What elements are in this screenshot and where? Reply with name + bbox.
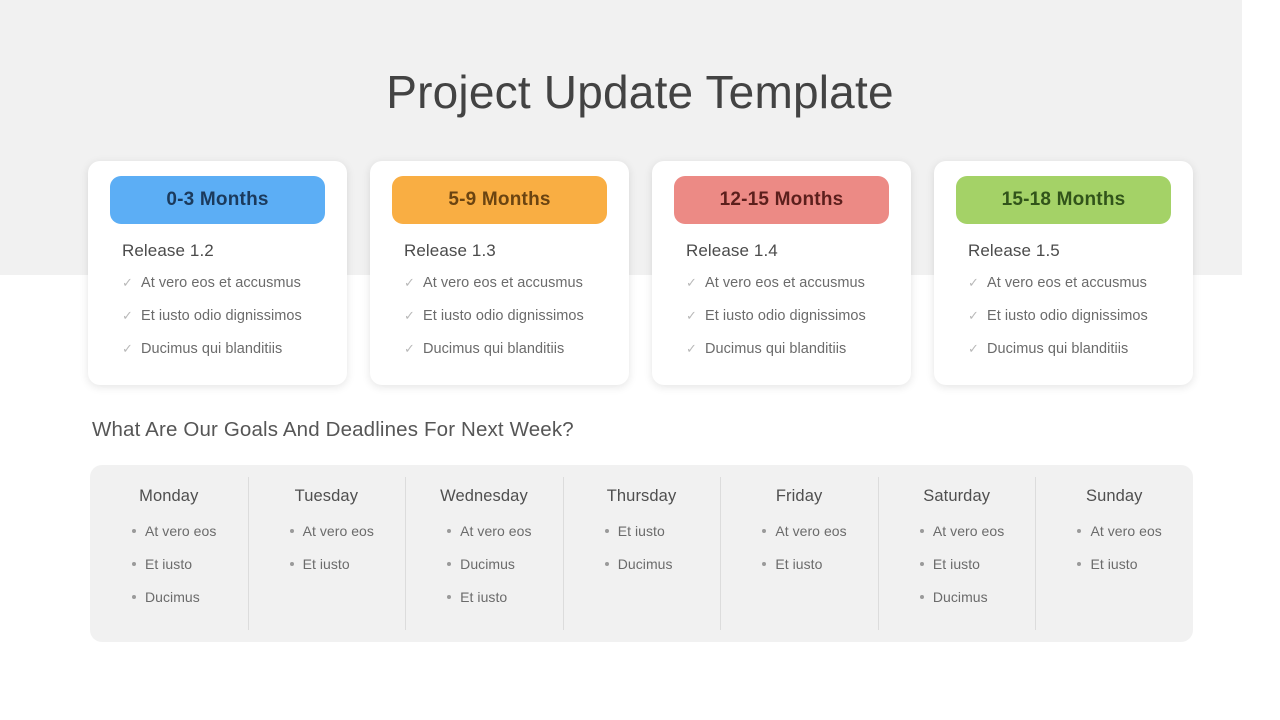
day-name-label: Saturday: [878, 487, 1036, 506]
day-task-item: Ducimus: [920, 589, 1036, 622]
day-task-item: At vero eos: [762, 523, 878, 556]
day-name-label: Friday: [720, 487, 878, 506]
release-card[interactable]: 12-15 MonthsRelease 1.4✓At vero eos et a…: [652, 161, 911, 385]
day-column-friday: FridayAt vero eosEt iusto: [720, 465, 878, 642]
release-version-label: Release 1.3: [404, 241, 496, 261]
check-icon: ✓: [968, 309, 979, 322]
release-feature-list: ✓At vero eos et accusmus✓Et iusto odio d…: [404, 275, 614, 374]
day-task-label: At vero eos: [303, 523, 374, 539]
bullet-icon: [762, 529, 766, 533]
bullet-icon: [290, 562, 294, 566]
bullet-icon: [447, 595, 451, 599]
day-task-item: Ducimus: [447, 556, 563, 589]
timeframe-badge[interactable]: 15-18 Months: [956, 176, 1171, 224]
day-task-list: Et iustoDucimus: [563, 523, 721, 589]
bullet-icon: [920, 529, 924, 533]
goals-section-heading: What Are Our Goals And Deadlines For Nex…: [92, 418, 574, 442]
release-feature-item: ✓Ducimus qui blanditiis: [404, 341, 614, 374]
bullet-icon: [920, 595, 924, 599]
release-feature-label: At vero eos et accusmus: [141, 275, 301, 291]
release-card[interactable]: 5-9 MonthsRelease 1.3✓At vero eos et acc…: [370, 161, 629, 385]
day-task-label: Ducimus: [618, 556, 673, 572]
day-task-label: At vero eos: [933, 523, 1004, 539]
week-schedule-panel: MondayAt vero eosEt iustoDucimusTuesdayA…: [90, 465, 1193, 642]
bullet-icon: [447, 562, 451, 566]
release-feature-label: At vero eos et accusmus: [705, 275, 865, 291]
release-feature-label: Et iusto odio dignissimos: [423, 308, 584, 324]
release-feature-label: Et iusto odio dignissimos: [705, 308, 866, 324]
release-feature-item: ✓At vero eos et accusmus: [122, 275, 332, 308]
day-task-label: Et iusto: [460, 589, 507, 605]
timeframe-badge[interactable]: 12-15 Months: [674, 176, 889, 224]
day-task-list: At vero eosEt iustoDucimus: [90, 523, 248, 622]
day-task-label: Ducimus: [933, 589, 988, 605]
day-task-item: At vero eos: [447, 523, 563, 556]
release-version-label: Release 1.2: [122, 241, 214, 261]
day-task-item: At vero eos: [920, 523, 1036, 556]
bullet-icon: [920, 562, 924, 566]
release-version-label: Release 1.5: [968, 241, 1060, 261]
day-task-label: Ducimus: [460, 556, 515, 572]
timeframe-badge[interactable]: 0-3 Months: [110, 176, 325, 224]
day-task-label: Et iusto: [775, 556, 822, 572]
release-feature-list: ✓At vero eos et accusmus✓Et iusto odio d…: [968, 275, 1178, 374]
day-task-list: At vero eosEt iusto: [248, 523, 406, 589]
day-name-label: Wednesday: [405, 487, 563, 506]
check-icon: ✓: [122, 342, 133, 355]
day-task-item: Ducimus: [605, 556, 721, 589]
release-feature-item: ✓Et iusto odio dignissimos: [122, 308, 332, 341]
check-icon: ✓: [122, 276, 133, 289]
day-task-item: Et iusto: [290, 556, 406, 589]
day-name-label: Monday: [90, 487, 248, 506]
day-task-item: Et iusto: [1077, 556, 1193, 589]
day-task-label: Et iusto: [1090, 556, 1137, 572]
day-column-thursday: ThursdayEt iustoDucimus: [563, 465, 721, 642]
timeframe-badge[interactable]: 5-9 Months: [392, 176, 607, 224]
release-card[interactable]: 0-3 MonthsRelease 1.2✓At vero eos et acc…: [88, 161, 347, 385]
release-feature-item: ✓At vero eos et accusmus: [968, 275, 1178, 308]
bullet-icon: [1077, 562, 1081, 566]
release-feature-label: At vero eos et accusmus: [423, 275, 583, 291]
day-task-list: At vero eosEt iustoDucimus: [878, 523, 1036, 622]
day-name-label: Thursday: [563, 487, 721, 506]
bullet-icon: [132, 529, 136, 533]
bullet-icon: [605, 529, 609, 533]
day-column-saturday: SaturdayAt vero eosEt iustoDucimus: [878, 465, 1036, 642]
release-feature-label: Ducimus qui blanditiis: [705, 341, 846, 357]
bullet-icon: [290, 529, 294, 533]
page-title: Project Update Template: [0, 62, 1280, 122]
check-icon: ✓: [404, 342, 415, 355]
day-task-list: At vero eosEt iusto: [720, 523, 878, 589]
release-cards-row: 0-3 MonthsRelease 1.2✓At vero eos et acc…: [88, 161, 1193, 385]
bullet-icon: [1077, 529, 1081, 533]
release-feature-item: ✓Ducimus qui blanditiis: [122, 341, 332, 374]
day-task-list: At vero eosEt iusto: [1035, 523, 1193, 589]
bullet-icon: [447, 529, 451, 533]
day-task-label: At vero eos: [1090, 523, 1161, 539]
day-task-list: At vero eosDucimusEt iusto: [405, 523, 563, 622]
release-card[interactable]: 15-18 MonthsRelease 1.5✓At vero eos et a…: [934, 161, 1193, 385]
day-task-item: Ducimus: [132, 589, 248, 622]
day-task-item: At vero eos: [290, 523, 406, 556]
release-feature-item: ✓Ducimus qui blanditiis: [686, 341, 896, 374]
release-feature-label: Et iusto odio dignissimos: [141, 308, 302, 324]
release-feature-item: ✓Ducimus qui blanditiis: [968, 341, 1178, 374]
release-version-label: Release 1.4: [686, 241, 778, 261]
day-task-item: Et iusto: [920, 556, 1036, 589]
check-icon: ✓: [122, 309, 133, 322]
release-feature-item: ✓At vero eos et accusmus: [404, 275, 614, 308]
day-column-sunday: SundayAt vero eosEt iusto: [1035, 465, 1193, 642]
release-feature-label: Ducimus qui blanditiis: [423, 341, 564, 357]
release-feature-item: ✓Et iusto odio dignissimos: [968, 308, 1178, 341]
day-column-tuesday: TuesdayAt vero eosEt iusto: [248, 465, 406, 642]
release-feature-label: Ducimus qui blanditiis: [987, 341, 1128, 357]
release-feature-list: ✓At vero eos et accusmus✓Et iusto odio d…: [686, 275, 896, 374]
day-task-item: Et iusto: [762, 556, 878, 589]
bullet-icon: [132, 595, 136, 599]
background-right-edge: [1242, 0, 1280, 275]
check-icon: ✓: [686, 342, 697, 355]
day-task-label: Ducimus: [145, 589, 200, 605]
release-feature-list: ✓At vero eos et accusmus✓Et iusto odio d…: [122, 275, 332, 374]
day-task-item: Et iusto: [447, 589, 563, 622]
day-task-item: At vero eos: [132, 523, 248, 556]
day-column-monday: MondayAt vero eosEt iustoDucimus: [90, 465, 248, 642]
check-icon: ✓: [686, 276, 697, 289]
release-feature-item: ✓At vero eos et accusmus: [686, 275, 896, 308]
day-task-label: At vero eos: [460, 523, 531, 539]
check-icon: ✓: [686, 309, 697, 322]
check-icon: ✓: [968, 276, 979, 289]
day-task-label: Et iusto: [145, 556, 192, 572]
day-column-wednesday: WednesdayAt vero eosDucimusEt iusto: [405, 465, 563, 642]
release-feature-label: Ducimus qui blanditiis: [141, 341, 282, 357]
bullet-icon: [605, 562, 609, 566]
release-feature-label: Et iusto odio dignissimos: [987, 308, 1148, 324]
check-icon: ✓: [404, 276, 415, 289]
day-task-item: Et iusto: [132, 556, 248, 589]
day-task-label: Et iusto: [618, 523, 665, 539]
bullet-icon: [762, 562, 766, 566]
bullet-icon: [132, 562, 136, 566]
check-icon: ✓: [404, 309, 415, 322]
day-task-label: At vero eos: [775, 523, 846, 539]
day-name-label: Sunday: [1035, 487, 1193, 506]
day-task-label: At vero eos: [145, 523, 216, 539]
day-task-item: At vero eos: [1077, 523, 1193, 556]
day-name-label: Tuesday: [248, 487, 406, 506]
release-feature-label: At vero eos et accusmus: [987, 275, 1147, 291]
release-feature-item: ✓Et iusto odio dignissimos: [686, 308, 896, 341]
check-icon: ✓: [968, 342, 979, 355]
day-task-label: Et iusto: [303, 556, 350, 572]
day-task-item: Et iusto: [605, 523, 721, 556]
day-task-label: Et iusto: [933, 556, 980, 572]
slide-canvas: Project Update Template 0-3 MonthsReleas…: [0, 0, 1280, 720]
release-feature-item: ✓Et iusto odio dignissimos: [404, 308, 614, 341]
